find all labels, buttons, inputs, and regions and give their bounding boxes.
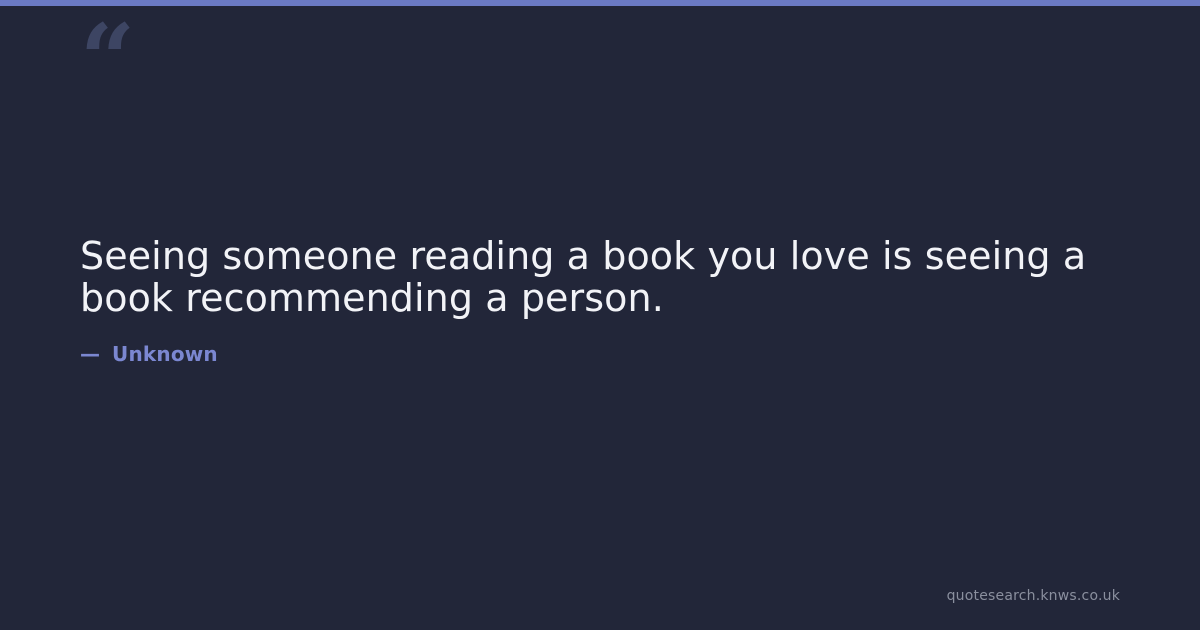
attribution-author: Unknown	[112, 344, 218, 364]
attribution-dash: —	[80, 344, 100, 364]
top-accent-bar	[0, 0, 1200, 6]
quote-text: Seeing someone reading a book you love i…	[80, 236, 1090, 320]
site-watermark: quotesearch.knws.co.uk	[947, 588, 1120, 604]
attribution: — Unknown	[80, 344, 218, 364]
quotation-mark-icon: “	[80, 12, 133, 108]
quote-block: Seeing someone reading a book you love i…	[80, 236, 1090, 320]
quote-card: “ Seeing someone reading a book you love…	[0, 0, 1200, 630]
